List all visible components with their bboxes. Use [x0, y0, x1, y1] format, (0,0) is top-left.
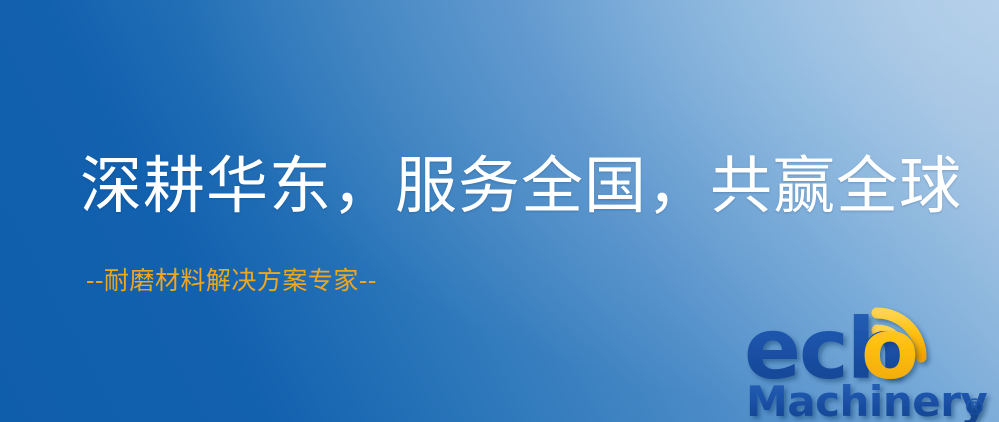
- logo-text-machinery: Machinery: [746, 377, 987, 422]
- page-title: 深耕华东，服务全国，共赢全球: [80, 153, 962, 218]
- registered-trademark-icon: ®: [963, 395, 986, 421]
- page-subtitle: --耐磨材料解决方案专家--: [86, 266, 377, 296]
- hero-banner: 深耕华东，服务全国，共赢全球 --耐磨材料解决方案专家--: [0, 0, 999, 422]
- brand-logo[interactable]: ech o Machinery ®: [744, 296, 999, 422]
